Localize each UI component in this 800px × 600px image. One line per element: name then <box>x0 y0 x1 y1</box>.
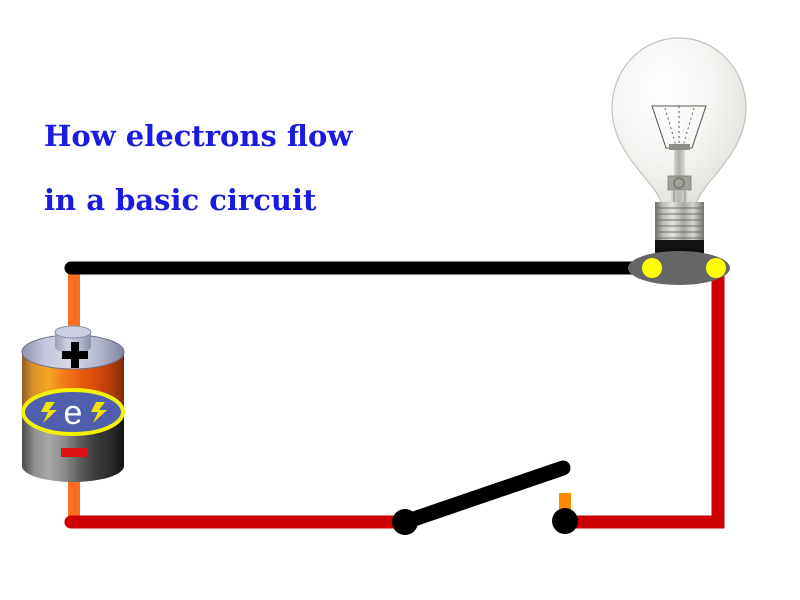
socket-terminal-left[interactable] <box>642 258 662 278</box>
wire-lamp-to-switch-red <box>565 272 718 522</box>
electron-letter: e <box>64 394 83 432</box>
bulb-screw-base <box>655 202 704 241</box>
page-title-line-1: How electrons flow <box>44 120 352 152</box>
lamp-socket[interactable] <box>628 251 730 285</box>
battery[interactable]: e <box>22 326 124 482</box>
page-title-line-2: in a basic circuit <box>44 184 352 216</box>
circuit-diagram: How electrons flow in a basic circuit <box>0 0 800 600</box>
socket-terminal-right[interactable] <box>706 258 726 278</box>
switch-pivot-contact[interactable] <box>392 509 418 535</box>
page-title: How electrons flow in a basic circuit <box>44 88 352 248</box>
switch-lever[interactable] <box>405 468 563 522</box>
battery-minus-sign <box>61 448 87 457</box>
light-bulb[interactable] <box>612 38 746 264</box>
switch-right-contact[interactable] <box>552 508 578 534</box>
switch[interactable] <box>392 468 578 535</box>
battery-positive-nub-top <box>55 326 91 338</box>
